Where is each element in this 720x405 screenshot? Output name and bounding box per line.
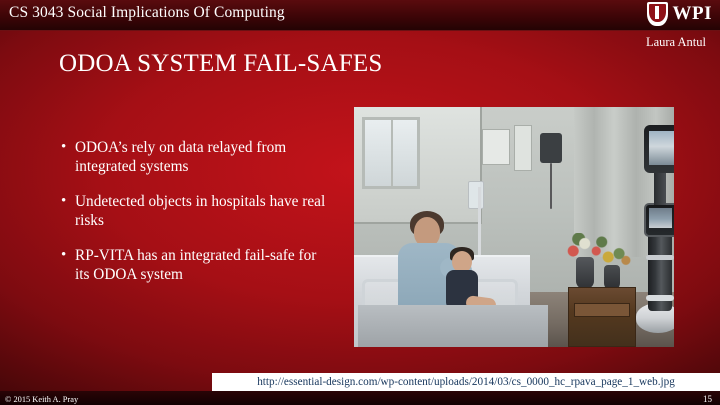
window <box>362 117 420 189</box>
side-table-drawer <box>574 303 630 317</box>
robot-doctor-video-feed <box>649 131 674 165</box>
side-table <box>568 287 636 347</box>
course-title: CS 3043 Social Implications Of Computing <box>9 4 285 22</box>
slide-image <box>354 107 674 347</box>
image-source-url[interactable]: http://essential-design.com/wp-content/u… <box>212 373 720 391</box>
wall-medical-device <box>482 129 510 165</box>
bullet-list: • ODOA’s rely on data relayed from integ… <box>59 138 329 300</box>
bullet-marker-icon: • <box>61 138 66 157</box>
wpi-logo: WPI <box>647 2 713 26</box>
copyright-text: © 2015 Keith A. Pray <box>5 395 78 404</box>
list-item-text: RP-VITA has an integrated fail-safe for … <box>75 247 316 283</box>
list-item: • RP-VITA has an integrated fail-safe fo… <box>59 246 329 284</box>
page-number: 15 <box>703 394 712 404</box>
hospital-room-photo <box>354 107 674 347</box>
vase <box>576 257 594 289</box>
list-item-text: ODOA’s rely on data relayed from integra… <box>75 139 286 175</box>
list-item: • ODOA’s rely on data relayed from integ… <box>59 138 329 176</box>
page-title: ODOA SYSTEM FAIL-SAFES <box>59 50 382 78</box>
list-item-text: Undetected objects in hospitals have rea… <box>75 193 325 229</box>
wall-monitor <box>540 133 562 163</box>
iv-bag <box>468 181 484 209</box>
bullet-marker-icon: • <box>61 246 66 265</box>
robot-neck <box>654 171 666 205</box>
wall-medical-device-secondary <box>514 125 532 171</box>
presentation-slide: CS 3043 Social Implications Of Computing… <box>0 0 720 405</box>
bullet-marker-icon: • <box>61 192 66 211</box>
monitor-cord <box>550 163 552 209</box>
author-name: Laura Antul <box>646 35 706 50</box>
robot-touchscreen-image <box>649 208 672 228</box>
list-item: • Undetected objects in hospitals have r… <box>59 192 329 230</box>
robot-ring-lower <box>646 295 674 301</box>
bed-blanket <box>358 305 548 347</box>
wpi-shield-icon <box>647 2 668 26</box>
wpi-logo-text: WPI <box>673 3 713 25</box>
slide-footer-bar <box>0 391 720 405</box>
robot-ring-upper <box>646 255 674 260</box>
slide-header-bar: CS 3043 Social Implications Of Computing… <box>0 0 720 31</box>
